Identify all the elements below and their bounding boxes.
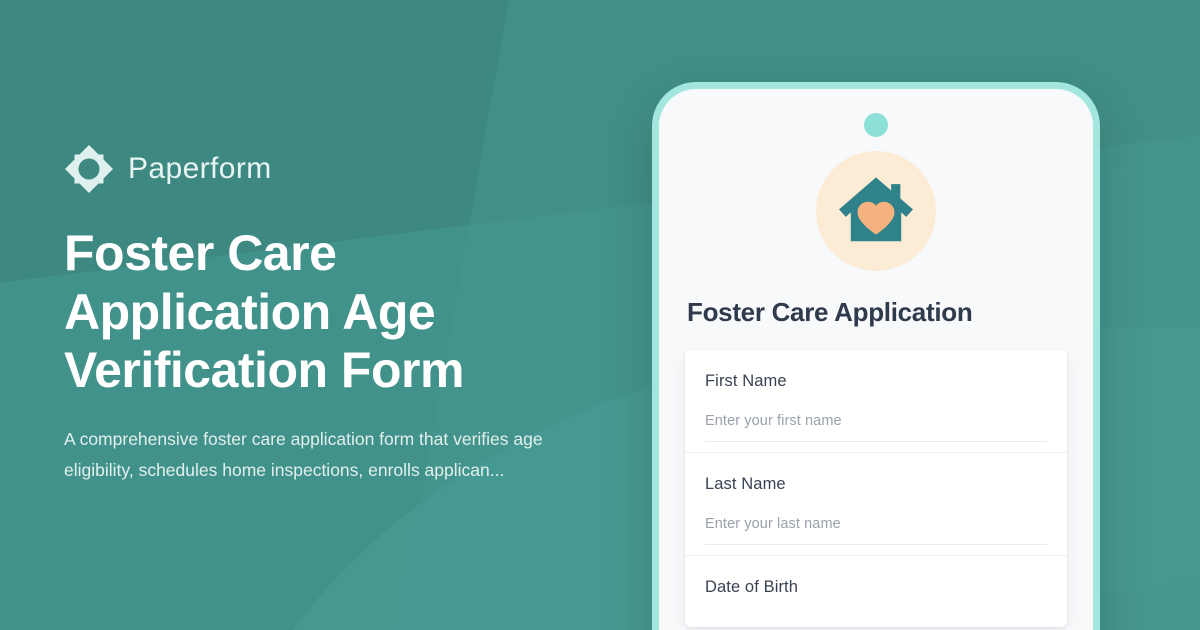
form-field-date-of-birth[interactable]: Date of Birth (685, 556, 1067, 627)
form-card: First Name Enter your first name Last Na… (685, 350, 1067, 627)
field-label-date-of-birth: Date of Birth (705, 578, 1047, 597)
page-title: Foster Care Application Age Verification… (64, 224, 534, 400)
page-description: A comprehensive foster care application … (64, 424, 584, 486)
last-name-input[interactable]: Enter your last name (705, 516, 1047, 545)
hero-content: Paperform Foster Care Application Age Ve… (64, 0, 664, 630)
form-field-first-name[interactable]: First Name Enter your first name (685, 350, 1067, 453)
form-title: Foster Care Application (685, 297, 1067, 328)
phone-screen: Foster Care Application First Name Enter… (659, 89, 1093, 630)
house-with-heart-icon (816, 151, 936, 271)
paperform-star-logo-icon (64, 144, 114, 194)
phone-mockup: Foster Care Application First Name Enter… (652, 82, 1100, 630)
field-label-first-name: First Name (705, 372, 1047, 391)
first-name-input[interactable]: Enter your first name (705, 413, 1047, 442)
brand-name: Paperform (128, 154, 272, 184)
camera-dot-icon (864, 113, 888, 137)
form-field-last-name[interactable]: Last Name Enter your last name (685, 453, 1067, 556)
field-label-last-name: Last Name (705, 475, 1047, 494)
brand-lockup: Paperform (64, 144, 664, 194)
